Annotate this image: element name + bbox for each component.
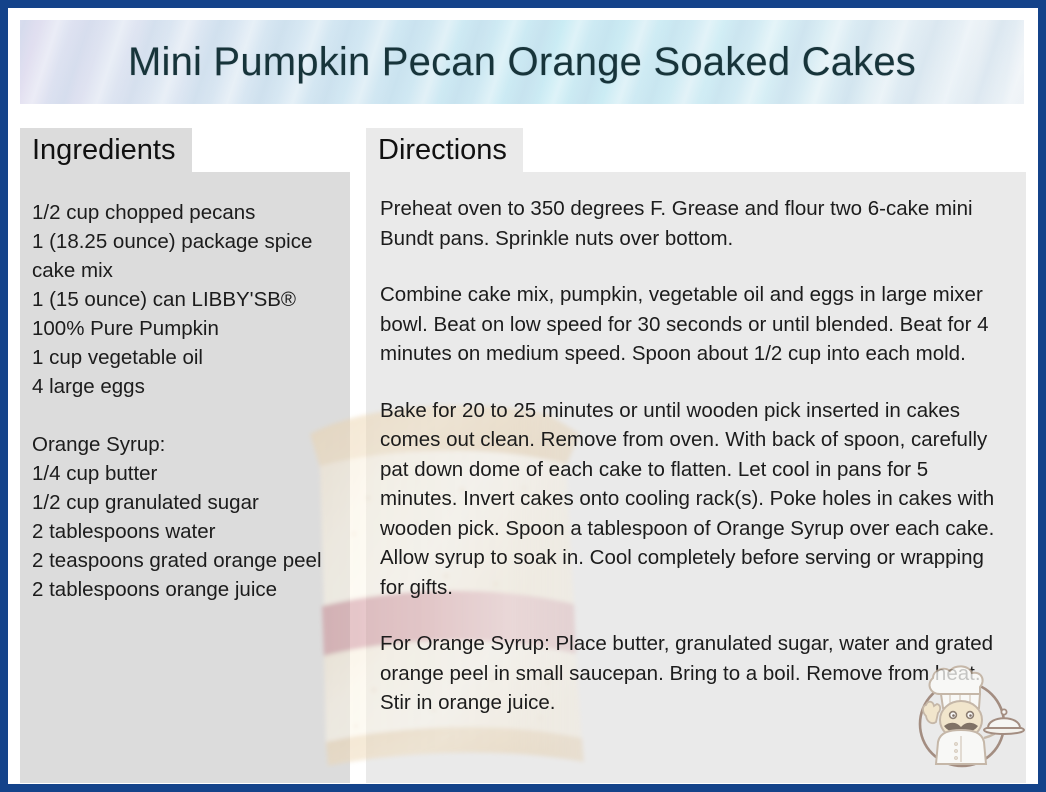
ingredients-list: 1/2 cup chopped pecans 1 (18.25 ounce) p… xyxy=(20,172,350,604)
list-item: 2 tablespoons water xyxy=(32,517,336,546)
list-item: 4 large eggs xyxy=(32,372,336,401)
list-item: cake mix xyxy=(32,256,336,285)
spacer xyxy=(32,401,336,430)
direction-paragraph: Preheat oven to 350 degrees F. Grease an… xyxy=(380,194,1010,253)
list-item: 1 cup vegetable oil xyxy=(32,343,336,372)
list-item: 1 (15 ounce) can LIBBY'SB® xyxy=(32,285,336,314)
direction-paragraph: Combine cake mix, pumpkin, vegetable oil… xyxy=(380,280,1010,369)
list-item: 2 teaspoons grated orange peel xyxy=(32,546,336,575)
recipe-card-inner: Mini Pumpkin Pecan Orange Soaked Cakes xyxy=(8,8,1038,784)
list-item: 100% Pure Pumpkin xyxy=(32,314,336,343)
list-item: 2 tablespoons orange juice xyxy=(32,575,336,604)
chef-logo-icon xyxy=(900,650,1028,778)
list-item: 1/2 cup granulated sugar xyxy=(32,488,336,517)
direction-paragraph: Bake for 20 to 25 minutes or until woode… xyxy=(380,396,1010,603)
tab-ingredients[interactable]: Ingredients xyxy=(20,128,192,172)
list-item: 1/2 cup chopped pecans xyxy=(32,198,336,227)
list-item: 1/4 cup butter xyxy=(32,459,336,488)
tab-directions[interactable]: Directions xyxy=(366,128,523,172)
directions-text: Preheat oven to 350 degrees F. Grease an… xyxy=(366,172,1026,718)
list-item: 1 (18.25 ounce) package spice xyxy=(32,227,336,256)
recipe-card: Mini Pumpkin Pecan Orange Soaked Cakes xyxy=(0,0,1046,792)
content-panels: Ingredients 1/2 cup chopped pecans 1 (18… xyxy=(20,128,1026,783)
title-banner: Mini Pumpkin Pecan Orange Soaked Cakes xyxy=(20,20,1024,104)
ingredients-panel: 1/2 cup chopped pecans 1 (18.25 ounce) p… xyxy=(20,172,350,783)
page-title: Mini Pumpkin Pecan Orange Soaked Cakes xyxy=(128,40,916,85)
syrup-heading: Orange Syrup: xyxy=(32,430,336,459)
